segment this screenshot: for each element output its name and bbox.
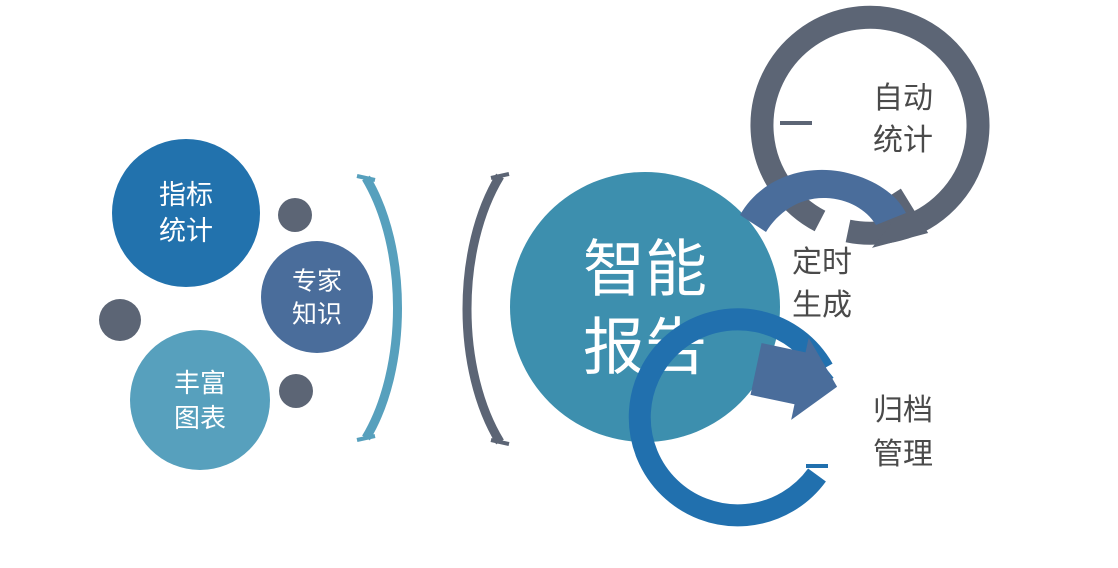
connector-arc-slate [467,174,509,444]
connector-arc-slate-stroke [467,176,500,442]
bubble-rich-charts[interactable]: 丰富 图表 [130,330,270,470]
bubble-rich-charts-shape[interactable] [130,330,270,470]
bubble-metric-statistics-shape[interactable] [112,139,260,287]
bubble-metric-statistics-label-line2: 统计 [159,216,213,246]
label-scheduled-generation: 定时 生成 [792,246,852,322]
connector-arc-light-blue-cap-bottom [357,436,375,440]
ring-auto-statistics-label-line2: 统计 [873,124,933,157]
bubble-metric-statistics-label-line1: 指标 [159,180,213,210]
accent-dot-lower-right [279,374,313,408]
diagram-root: 丰富 图表 专家 知识 指标 统计 智能 [0,0,1118,568]
ring-auto-statistics[interactable]: 自动 统计 [762,17,978,267]
bubble-metric-statistics[interactable]: 指标 统计 [112,139,260,287]
label-scheduled-generation-line1: 定时 [792,246,852,279]
center-node-label-line1: 智能 [583,235,707,304]
bubble-expert-knowledge-shape[interactable] [261,241,373,353]
ring-auto-statistics-label-line1: 自动 [873,82,933,115]
infographic-canvas: 丰富 图表 专家 知识 指标 统计 智能 [0,0,1118,568]
connector-arc-light-blue-cap-top [357,176,375,180]
bubble-expert-knowledge[interactable]: 专家 知识 [261,241,373,353]
accent-dot-left [99,299,141,341]
connector-arc-slate-cap-bottom [491,440,509,444]
label-scheduled-generation-line2: 生成 [792,289,852,322]
connector-arc-slate-cap-top [491,174,509,178]
ring-archive-management-label-line2: 管理 [873,438,933,471]
bubble-expert-knowledge-label-line1: 专家 [292,268,342,296]
accent-dot-upper-right [278,198,312,232]
ring-archive-management-label-line1: 归档 [873,394,933,427]
bubble-rich-charts-label-line1: 丰富 [174,368,226,398]
bubble-rich-charts-label-line2: 图表 [174,403,226,433]
bubble-expert-knowledge-label-line2: 知识 [292,301,342,329]
